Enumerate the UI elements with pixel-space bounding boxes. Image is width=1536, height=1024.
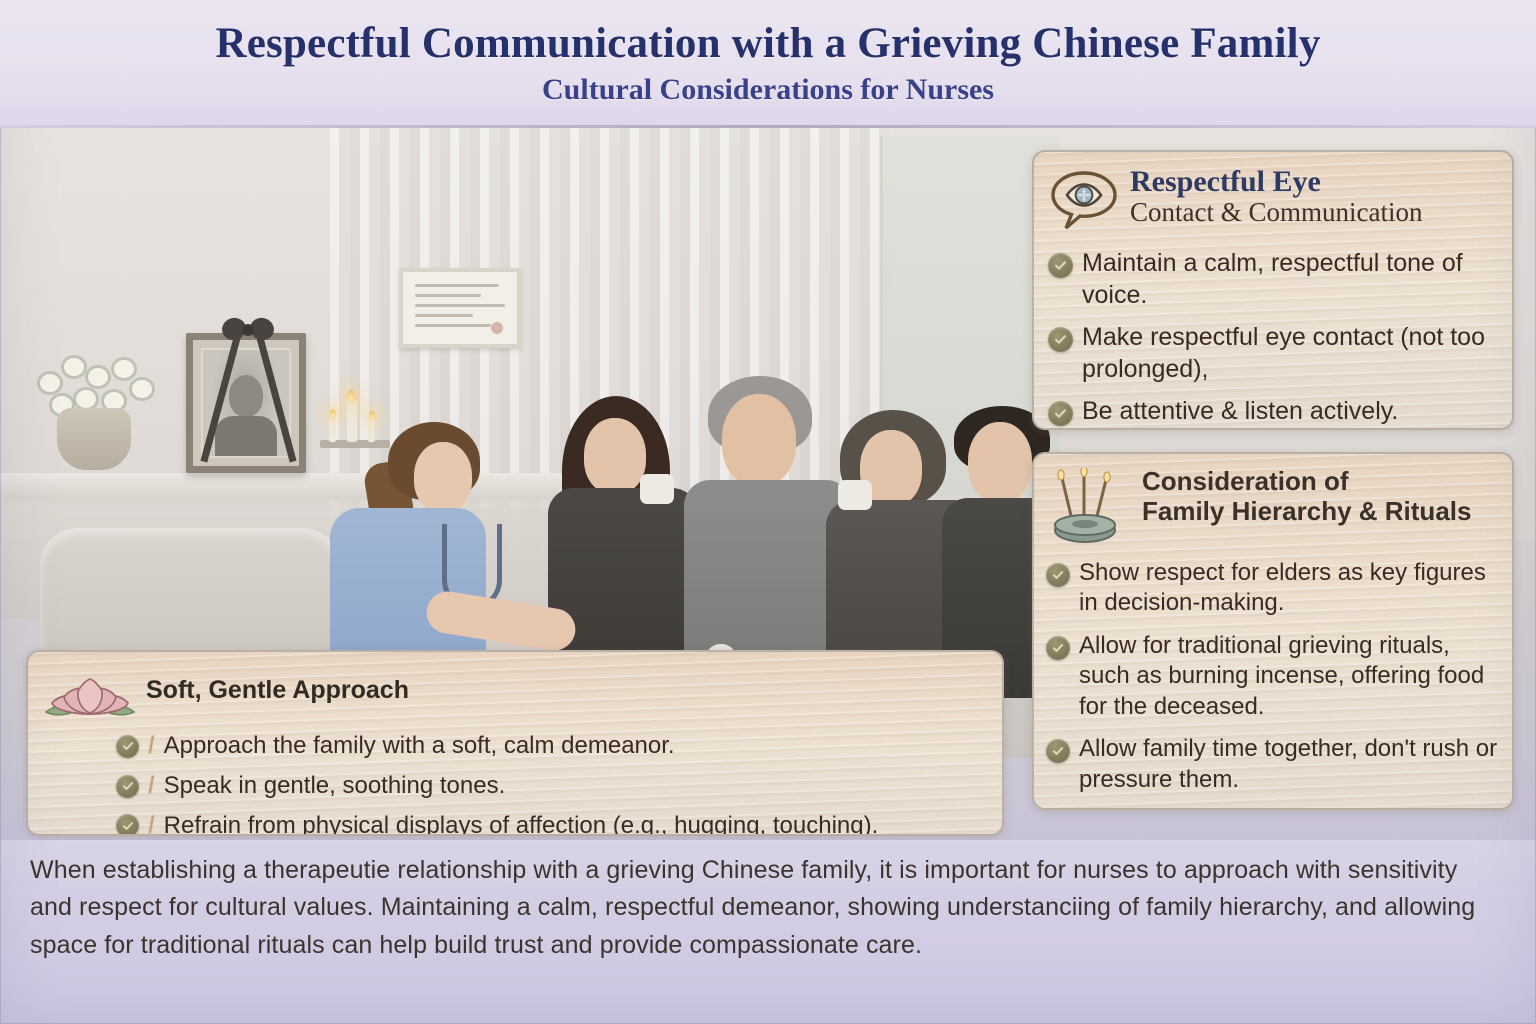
- candle-flame-icon: [330, 409, 336, 418]
- footer-summary: When establishing a therapeutie relation…: [0, 840, 1536, 1024]
- check-badge-icon: [1046, 739, 1070, 763]
- check-badge-icon: [1048, 401, 1073, 426]
- framed-certificate-icon: [399, 268, 521, 348]
- list-item-text: Maintain a calm, respectful tone of voic…: [1082, 248, 1496, 311]
- list-item-text: Be attentive & listen actively.: [1082, 396, 1496, 428]
- mother-hand-with-tissue: [838, 480, 872, 510]
- father-head: [722, 394, 796, 486]
- list-item: Allow family time together, don't rush o…: [1046, 734, 1498, 795]
- candle-large-icon: [347, 400, 357, 442]
- panel-eye-title-line1: Respectful Eye: [1130, 166, 1496, 198]
- nurse-head: [414, 442, 472, 512]
- flower-vase-icon: [57, 408, 131, 470]
- portrait-head: [229, 375, 263, 417]
- panel-hierarchy-bullet-list: Show respect for elders as key figures i…: [1046, 558, 1498, 795]
- panel-respectful-eye-contact[interactable]: Respectful Eye Contact & Communication M…: [1032, 150, 1514, 430]
- panel-eye-header: Respectful Eye Contact & Communication: [1048, 166, 1496, 232]
- check-badge-icon: [116, 775, 139, 798]
- panel-soft-title: Soft, Gentle Approach: [146, 676, 984, 705]
- candle-flame-icon: [348, 390, 355, 402]
- panel-hierarchy-title-line1: Consideration of: [1142, 466, 1498, 496]
- panel-soft-header: Soft, Gentle Approach: [44, 662, 984, 728]
- certificate-seal-icon: [491, 322, 503, 334]
- check-badge-icon: [1046, 636, 1070, 660]
- ribbon-knot: [242, 324, 254, 336]
- panel-soft-bullet-list: / Approach the family with a soft, calm …: [44, 732, 984, 836]
- bullet-separator: /: [148, 732, 155, 761]
- panel-soft-gentle-approach[interactable]: Soft, Gentle Approach / Approach the fam…: [26, 650, 1004, 836]
- page-subtitle: Cultural Considerations for Nurses: [542, 73, 994, 107]
- list-item-text: Approach the family with a soft, calm de…: [164, 732, 984, 761]
- panel-eye-bullet-list: Maintain a calm, respectful tone of voic…: [1048, 248, 1496, 428]
- candle-small-left-icon: [329, 418, 336, 442]
- lotus-flower-icon: [44, 662, 136, 728]
- header-divider: [0, 125, 1536, 128]
- list-item-text: Speak in gentle, soothing tones.: [164, 772, 984, 801]
- list-item: / Refrain from physical displays of affe…: [116, 812, 984, 836]
- summary-paragraph: When establishing a therapeutie relation…: [30, 852, 1502, 964]
- check-badge-icon: [116, 735, 139, 758]
- list-item: Show respect for elders as key figures i…: [1046, 558, 1498, 619]
- panel-family-hierarchy-rituals[interactable]: Consideration of Family Hierarchy & Ritu…: [1032, 452, 1514, 810]
- infographic-poster: Respectful Communication with a Grieving…: [0, 0, 1536, 1024]
- list-item-text: Make respectful eye contact (not too pro…: [1082, 322, 1496, 385]
- candle-small-right-icon: [368, 420, 375, 442]
- list-item: / Speak in gentle, soothing tones.: [116, 772, 984, 801]
- list-item-text: Allow for traditional grieving rituals, …: [1079, 631, 1498, 722]
- eye-in-speech-bubble-icon: [1048, 170, 1120, 232]
- mantel-shelf: [0, 473, 640, 499]
- check-badge-icon: [1048, 253, 1073, 278]
- bullet-separator: /: [148, 812, 155, 836]
- check-badge-icon: [1048, 327, 1073, 352]
- list-item: Maintain a calm, respectful tone of voic…: [1048, 248, 1496, 311]
- portrait-torso: [215, 416, 277, 456]
- daughter-hand-with-tissue: [640, 474, 674, 504]
- list-item: Allow for traditional grieving rituals, …: [1046, 631, 1498, 722]
- daughter-head: [584, 418, 646, 494]
- candle-flame-icon: [369, 411, 375, 420]
- black-mourning-ribbon-icon: [222, 318, 274, 344]
- panel-hierarchy-title-line2: Family Hierarchy & Rituals: [1142, 496, 1498, 526]
- poster-header: Respectful Communication with a Grieving…: [0, 0, 1536, 128]
- check-badge-icon: [1046, 563, 1070, 587]
- list-item: / Approach the family with a soft, calm …: [116, 732, 984, 761]
- incense-burner-icon: [1046, 468, 1124, 544]
- check-badge-icon: [116, 814, 139, 836]
- page-title: Respectful Communication with a Grieving…: [215, 21, 1320, 66]
- list-item-text: Allow family time together, don't rush o…: [1079, 734, 1498, 795]
- bullet-separator: /: [148, 772, 155, 801]
- panel-hierarchy-header: Consideration of Family Hierarchy & Ritu…: [1046, 466, 1498, 544]
- son-head: [968, 422, 1032, 502]
- panel-eye-title-line2: Contact & Communication: [1130, 198, 1496, 228]
- list-item-text: Refrain from physical displays of affect…: [164, 812, 984, 836]
- list-item: Make respectful eye contact (not too pro…: [1048, 322, 1496, 385]
- list-item-text: Show respect for elders as key figures i…: [1079, 558, 1498, 619]
- list-item: Be attentive & listen actively.: [1048, 396, 1496, 428]
